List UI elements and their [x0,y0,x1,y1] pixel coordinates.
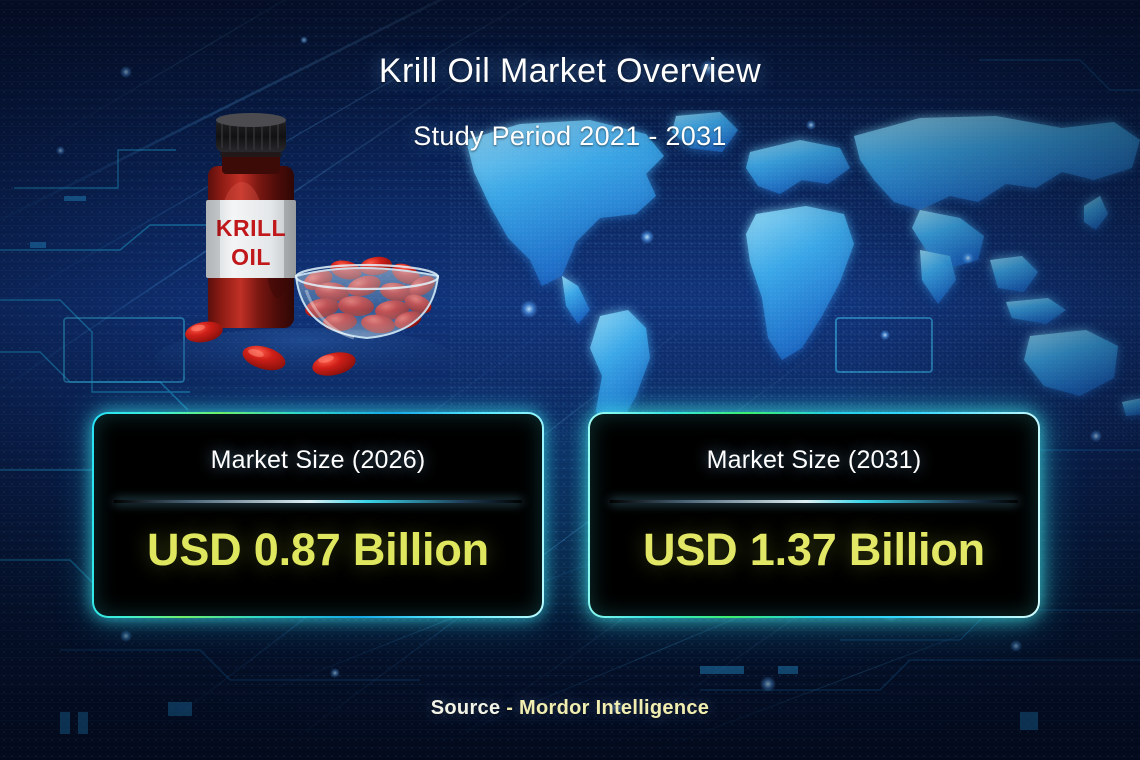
stat-card-market-size-2031[interactable]: Market Size (2031) USD 1.37 Billion [588,412,1040,618]
stat-card-market-size-2026[interactable]: Market Size (2026) USD 0.87 Billion [92,412,544,618]
stat-cards-container: Market Size (2026) USD 0.87 Billion Mark… [0,412,1140,622]
card-value: USD 1.37 Billion [588,524,1040,576]
card-label: Market Size (2031) [588,446,1040,475]
header-block: Krill Oil Market Overview Study Period 2… [0,52,1140,152]
bottle-label-oil: OIL [231,244,271,270]
source-word: Source [431,697,501,719]
page-title: Krill Oil Market Overview [0,52,1140,91]
infographic-root: KRILL OIL [0,0,1140,760]
capsule-bowl [296,255,438,338]
card-divider [610,500,1018,503]
card-value: USD 0.87 Billion [92,524,544,576]
card-background [588,412,1040,618]
card-background [92,412,544,618]
bottle-label-krill: KRILL [216,215,286,241]
card-divider [114,500,522,503]
source-attribution: Source - Mordor Intelligence [0,697,1140,720]
study-period-subtitle: Study Period 2021 - 2031 [0,121,1140,152]
source-name: - Mordor Intelligence [506,697,709,719]
card-label: Market Size (2026) [92,446,544,475]
